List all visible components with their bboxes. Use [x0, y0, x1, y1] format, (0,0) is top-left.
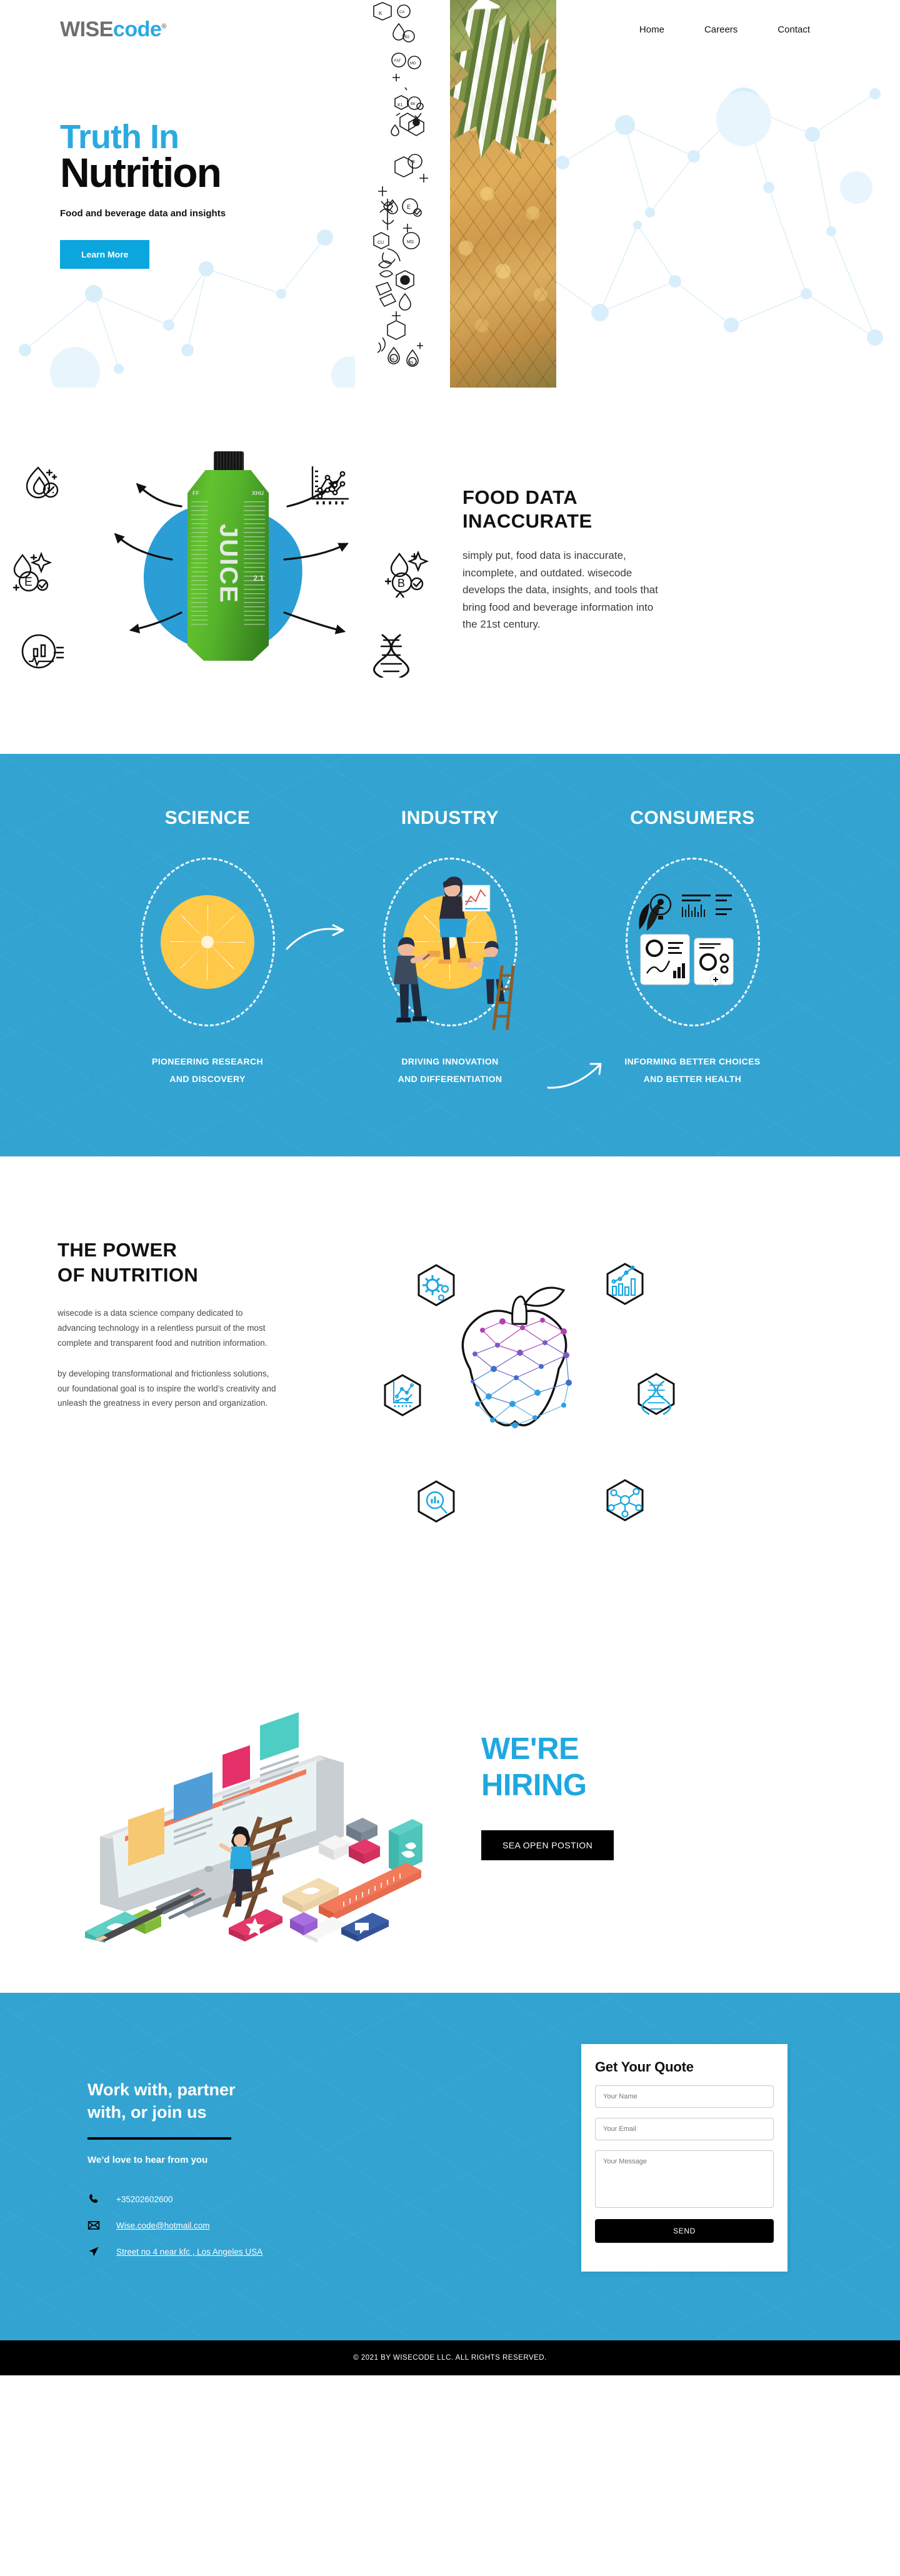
contact-subtitle: We’d love to hear from you: [87, 2155, 437, 2165]
flame-percent-icon: [22, 463, 62, 503]
see-open-position-button[interactable]: SEA OPEN POSTION: [481, 1830, 614, 1860]
pillar-caption-science: PIONEERING RESEARCH AND DISCOVERY: [104, 1053, 311, 1088]
contact-email-row[interactable]: Wise.code@hotmail.com: [87, 2219, 437, 2232]
nav-item-contact[interactable]: Contact: [777, 24, 810, 35]
main-nav: Home Careers Contact: [639, 24, 810, 35]
pillar-science: SCIENCE PIONEERING RESEARCH AND DISCOVER…: [104, 808, 311, 1088]
hiring-illustration: [0, 1649, 475, 1943]
contact-heading-line2: with, or join us: [87, 2103, 207, 2122]
hero-copy: Truth In Nutrition Food and beverage dat…: [60, 120, 360, 269]
carton-label: JUICE: [187, 511, 269, 617]
vitamin-e-drop-icon: E: [11, 550, 60, 596]
nav-item-home[interactable]: Home: [639, 24, 664, 35]
pillar-caption-industry: DRIVING INNOVATION AND DIFFERENTIATION: [347, 1053, 553, 1088]
registered-mark: ®: [161, 23, 166, 31]
pillar-title-science: SCIENCE: [104, 808, 311, 829]
hero-section: K CA B2 FAT MG K1 B6: [0, 0, 900, 388]
dashboard-cards-illustration: [633, 886, 752, 998]
power-paragraph-1: wisecode is a data science company dedic…: [57, 1306, 282, 1350]
pillar-ring-consumers: [626, 858, 760, 1026]
svg-text:E: E: [24, 576, 32, 589]
orange-slice-icon: [161, 895, 254, 989]
pillar-industry: INDUSTRY: [347, 808, 553, 1088]
name-input[interactable]: [595, 2085, 774, 2108]
power-of-nutrition-section: THE POWER OF NUTRITION wisecode is a dat…: [0, 1156, 900, 1630]
email-input[interactable]: [595, 2118, 774, 2140]
pillar-caption-consumers: INFORMING BETTER CHOICES AND BETTER HEAL…: [589, 1053, 796, 1088]
pillar-title-industry: INDUSTRY: [347, 808, 553, 829]
logo[interactable]: WISEcode®: [60, 19, 166, 40]
food-data-paragraph: simply put, food data is inaccurate, inc…: [462, 547, 669, 633]
chart-line-icon: [306, 463, 352, 509]
food-heading-line2: INACCURATE: [462, 510, 592, 532]
contact-heading: Work with, partner with, or join us: [87, 2079, 325, 2123]
pillar-ring-industry: [383, 858, 517, 1026]
message-input[interactable]: [595, 2150, 774, 2208]
logo-wise: WISE: [60, 18, 113, 41]
site-header: WISEcode® Home Careers Contact: [60, 0, 840, 40]
caption-line2: AND DISCOVERY: [104, 1070, 311, 1088]
people-working-illustration: [370, 844, 531, 1042]
envelope-icon: [87, 2219, 100, 2232]
low-poly-apple-icon: [462, 1288, 572, 1428]
hiring-section: WE'RE HIRING SEA OPEN POSTION: [0, 1630, 900, 1993]
juice-carton: FF XHU 2.1 JUICE: [187, 451, 269, 661]
arrow-science-to-industry-icon: [283, 920, 352, 958]
hex-bar-growth: [607, 1264, 642, 1304]
learn-more-button[interactable]: Learn More: [60, 240, 149, 269]
pillar-consumers: CONSUMERS: [589, 808, 796, 1088]
svg-text:%: %: [391, 358, 394, 362]
contact-email-text: Wise.code@hotmail.com: [116, 2221, 210, 2230]
hiring-heading: WE'RE HIRING: [481, 1732, 900, 1804]
hiring-heading-line1: WE'RE: [481, 1732, 579, 1766]
contact-copy: Work with, partner with, or join us We’d…: [0, 2053, 437, 2272]
food-data-heading: FOOD DATA INACCURATE: [462, 486, 806, 533]
pillars-columns: SCIENCE PIONEERING RESEARCH AND DISCOVER…: [0, 808, 900, 1088]
apple-hexagon-diagram: [325, 1224, 900, 1574]
location-arrow-icon: [87, 2245, 100, 2258]
hero-title-line2: Nutrition: [60, 151, 360, 194]
hero-title-line1: Truth In: [60, 120, 360, 154]
contact-address-text: Street no 4 near kfc , Los Angeles USA: [116, 2247, 262, 2257]
caption-line1: INFORMING BETTER CHOICES: [589, 1053, 796, 1070]
site-footer: © 2021 BY WISECODE LLC. ALL RIGHTS RESER…: [0, 2340, 900, 2375]
contact-section: Work with, partner with, or join us We’d…: [0, 1993, 900, 2340]
hero-subtitle: Food and beverage data and insights: [60, 208, 360, 219]
hex-magnify-bars: [419, 1481, 454, 1521]
hex-chart-line: [385, 1375, 420, 1415]
pillars-section: SCIENCE PIONEERING RESEARCH AND DISCOVER…: [0, 754, 900, 1156]
svg-text:B: B: [397, 577, 405, 589]
quote-form-title: Get Your Quote: [595, 2059, 774, 2075]
vitamin-b-drop-icon: B: [384, 550, 433, 598]
svg-text:%: %: [409, 361, 413, 365]
carton-cap: [214, 451, 244, 473]
carton-right-code: XHU: [252, 490, 264, 496]
power-paragraph-2: by developing transformational and frict…: [57, 1366, 282, 1411]
send-button[interactable]: SEND: [595, 2219, 774, 2243]
nav-item-careers[interactable]: Careers: [704, 24, 737, 35]
logo-code: code: [113, 18, 161, 41]
landing-page: K CA B2 FAT MG K1 B6: [0, 0, 900, 2375]
food-data-section: FF XHU 2.1 JUICE: [0, 388, 900, 754]
power-heading: THE POWER OF NUTRITION: [57, 1238, 325, 1287]
caption-line1: PIONEERING RESEARCH: [104, 1053, 311, 1070]
copyright-text: © 2021 BY WISECODE LLC. ALL RIGHTS RESER…: [353, 2354, 547, 2362]
carton-left-code: FF: [192, 490, 199, 496]
contact-phone-text: +35202602600: [116, 2195, 172, 2204]
power-heading-line2: OF NUTRITION: [57, 1264, 198, 1286]
food-heading-line1: FOOD DATA: [462, 486, 577, 508]
phone-icon: [87, 2193, 100, 2205]
dna-icon: [369, 631, 415, 678]
hiring-heading-line2: HIRING: [481, 1768, 587, 1802]
contact-details-list: +35202602600 Wise.code@hotmail.com: [87, 2193, 437, 2258]
juice-carton-diagram: FF XHU 2.1 JUICE: [0, 425, 462, 694]
pillar-title-consumers: CONSUMERS: [589, 808, 796, 829]
contact-address-row[interactable]: Street no 4 near kfc , Los Angeles USA: [87, 2245, 437, 2258]
hex-network: [607, 1480, 642, 1520]
arrow-industry-to-consumers-icon: [544, 1058, 613, 1095]
caption-line2: AND DIFFERENTIATION: [347, 1070, 553, 1088]
quote-form-card: Get Your Quote SEND: [581, 2044, 787, 2272]
divider: [87, 2137, 231, 2140]
pillar-ring-science: [141, 858, 275, 1026]
hex-dna: [639, 1374, 674, 1414]
caption-line2: AND BETTER HEALTH: [589, 1070, 796, 1088]
food-data-copy: FOOD DATA INACCURATE simply put, food da…: [462, 486, 900, 633]
contact-phone-row[interactable]: +35202602600: [87, 2193, 437, 2205]
power-copy: THE POWER OF NUTRITION wisecode is a dat…: [0, 1224, 325, 1574]
caption-line1: DRIVING INNOVATION: [347, 1053, 553, 1070]
power-heading-line1: THE POWER: [57, 1239, 177, 1261]
hiring-copy: WE'RE HIRING SEA OPEN POSTION: [475, 1732, 900, 1860]
hex-gears: [419, 1265, 454, 1305]
contact-heading-line1: Work with, partner: [87, 2080, 236, 2099]
magnify-chart-icon: [19, 631, 66, 676]
